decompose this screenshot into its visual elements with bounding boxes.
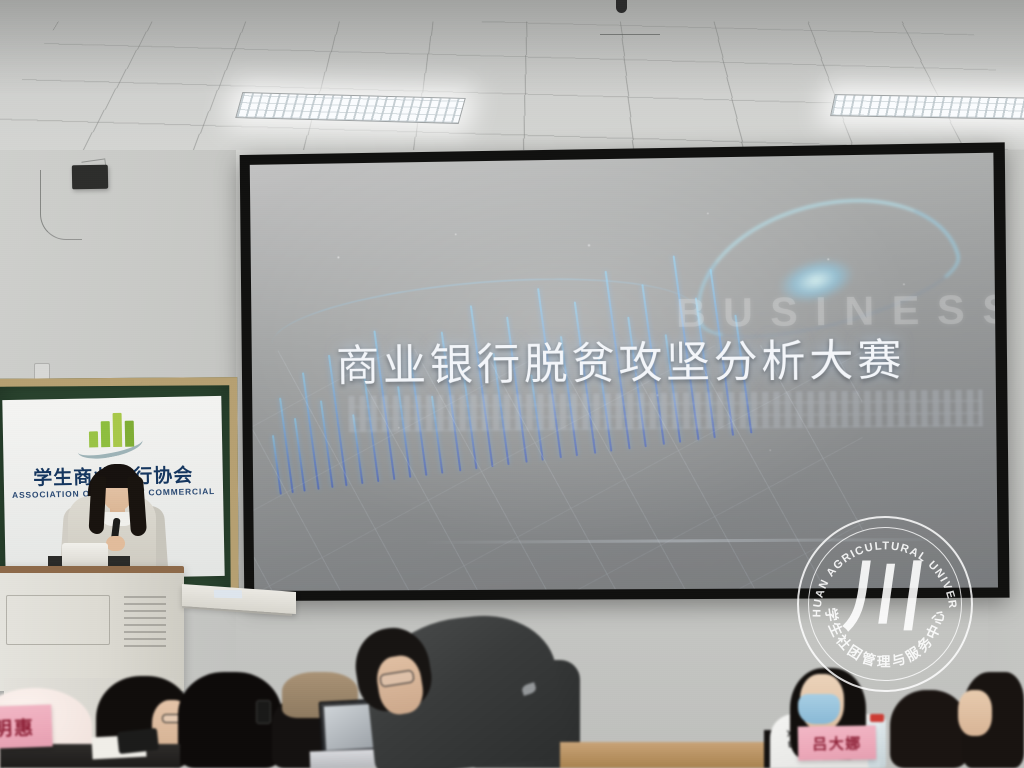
slide-title: 商业银行脱贫攻坚分析大赛 xyxy=(336,324,991,394)
name-placard-left: 明惠 xyxy=(0,705,53,750)
podium-mic-stand xyxy=(62,543,108,568)
face-mask-icon xyxy=(798,694,840,724)
audience-member-face xyxy=(958,690,992,736)
speaker-hair-left xyxy=(88,476,106,535)
seal-monogram: 川 xyxy=(794,558,977,636)
ceiling-light-panel-right xyxy=(830,94,1024,120)
name-placard-right: 吕大娜 xyxy=(798,725,877,760)
bottle-cap xyxy=(870,714,884,722)
podium xyxy=(0,566,184,691)
ceiling-sensor-icon xyxy=(616,0,627,13)
wooden-desk xyxy=(560,742,770,768)
university-seal-watermark: SICHUAN AGRICULTURAL UNIVERSITY 学生社团管理与服… xyxy=(797,516,973,692)
paper-on-table xyxy=(214,590,242,599)
slide-subtitle-blurred xyxy=(348,390,982,432)
smartphone-icon xyxy=(256,700,271,724)
audience-member-hair xyxy=(890,690,968,768)
podium-vent xyxy=(124,595,166,647)
smartphone-icon xyxy=(117,728,159,754)
lecture-hall-photo: BUSINESS 商业银行脱贫攻坚分析大赛 SICHUAN AGRICULTUR… xyxy=(0,0,1024,768)
speaker-hand xyxy=(106,536,125,551)
ceiling-wire xyxy=(600,34,660,35)
podium-panel xyxy=(6,595,110,645)
logo-arc xyxy=(76,429,145,463)
wall-speaker-icon xyxy=(72,165,108,190)
bar-chart-growth-logo xyxy=(81,414,140,459)
